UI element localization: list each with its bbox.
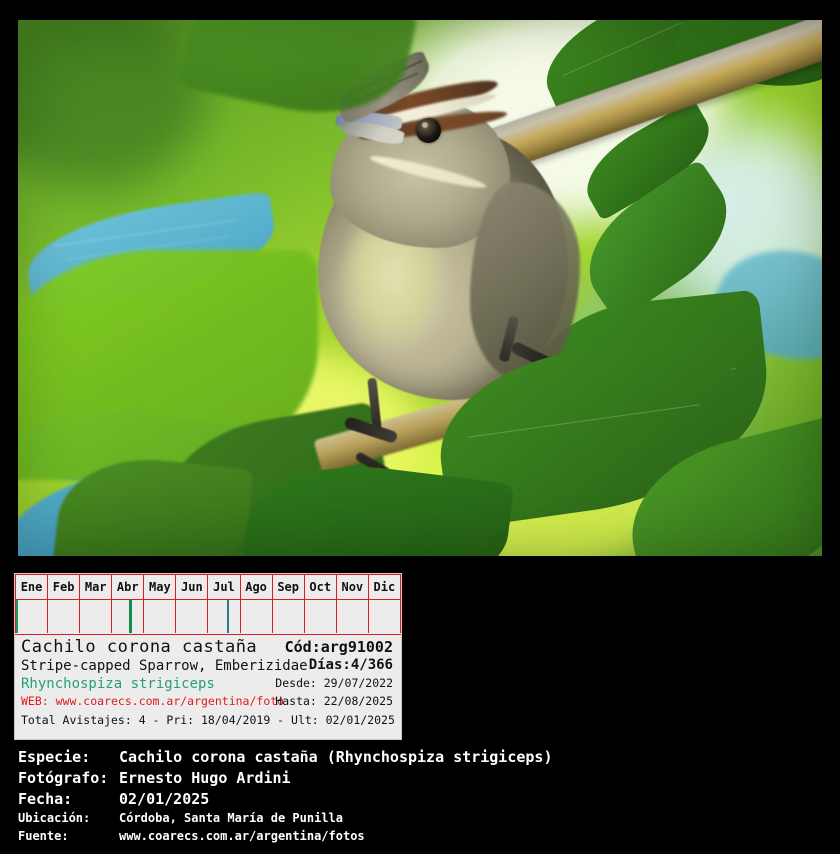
bird-eye [416, 118, 441, 143]
calendar-cell-nov [337, 600, 369, 633]
month-calendar: Ene Feb Mar Abr May Jun Jul Ago Sep Oct … [15, 574, 401, 635]
calendar-cell-jun [176, 600, 208, 633]
species-info-box: Ene Feb Mar Abr May Jun Jul Ago Sep Oct … [14, 573, 402, 740]
caption-block: Especie:Cachilo corona castaña (Rhynchos… [0, 748, 840, 847]
calendar-sighting-mark-1 [129, 600, 132, 633]
caption-value: Ernesto Hugo Ardini [119, 769, 291, 787]
calendar-cell-dic [369, 600, 401, 633]
caption-label: Especie: [18, 748, 119, 766]
caption-row-fotgrafo: Fotógrafo:Ernesto Hugo Ardini [0, 769, 840, 790]
species-english-name: Stripe-capped Sparrow, Emberizidae [21, 658, 308, 674]
species-text-block: Cachilo corona castaña Stripe-capped Spa… [15, 635, 401, 740]
calendar-header-row: Ene Feb Mar Abr May Jun Jul Ago Sep Oct … [15, 574, 401, 600]
month-header-jun: Jun [176, 575, 208, 599]
month-header-abr: Abr [112, 575, 144, 599]
species-date-from: Desde: 29/07/2022 [275, 676, 393, 690]
page-root: Ene Feb Mar Abr May Jun Jul Ago Sep Oct … [0, 0, 840, 854]
calendar-cell-mar [80, 600, 112, 633]
caption-value: Cachilo corona castaña (Rhynchospiza str… [119, 748, 552, 766]
species-total-sightings: Total Avistajes: 4 - Pri: 18/04/2019 - U… [21, 713, 395, 727]
month-header-nov: Nov [337, 575, 369, 599]
caption-label: Fotógrafo: [18, 769, 119, 787]
month-header-jul: Jul [208, 575, 240, 599]
calendar-sighting-mark-2 [227, 600, 229, 633]
species-common-name: Cachilo corona castaña [21, 637, 257, 657]
calendar-sighting-mark-0 [16, 600, 18, 633]
calendar-cell-may [144, 600, 176, 633]
calendar-cell-jul [208, 600, 240, 633]
calendar-cell-feb [48, 600, 80, 633]
calendar-sighting-row [15, 600, 401, 633]
month-header-mar: Mar [80, 575, 112, 599]
caption-row-especie: Especie:Cachilo corona castaña (Rhynchos… [0, 748, 840, 769]
species-scientific-name: Rhynchospiza strigiceps [21, 676, 215, 692]
month-header-ene: Ene [15, 575, 48, 599]
month-header-feb: Feb [48, 575, 80, 599]
month-header-may: May [144, 575, 176, 599]
bird-photo [18, 20, 822, 556]
caption-row-fuente: Fuente:www.coarecs.com.ar/argentina/foto… [0, 829, 840, 847]
caption-row-fecha: Fecha:02/01/2025 [0, 790, 840, 811]
caption-row-ubicacin: Ubicación:Córdoba, Santa María de Punill… [0, 811, 840, 829]
caption-label: Fuente: [18, 829, 119, 843]
caption-label: Ubicación: [18, 811, 119, 825]
caption-label: Fecha: [18, 790, 119, 808]
calendar-cell-ene [15, 600, 48, 633]
species-web-link[interactable]: WEB: www.coarecs.com.ar/argentina/foto [21, 694, 284, 708]
species-code: Cód:arg91002 [285, 638, 393, 656]
calendar-cell-sep [273, 600, 305, 633]
caption-value: 02/01/2025 [119, 790, 209, 808]
caption-value[interactable]: www.coarecs.com.ar/argentina/fotos [119, 829, 365, 843]
species-days: Días:4/366 [309, 657, 393, 673]
calendar-cell-oct [305, 600, 337, 633]
bird-eye-catchlight [422, 122, 428, 128]
species-date-to: Hasta: 22/08/2025 [275, 694, 393, 708]
month-header-oct: Oct [305, 575, 337, 599]
caption-value: Córdoba, Santa María de Punilla [119, 811, 343, 825]
month-header-dic: Dic [369, 575, 401, 599]
month-header-ago: Ago [241, 575, 273, 599]
calendar-cell-ago [241, 600, 273, 633]
month-header-sep: Sep [273, 575, 305, 599]
